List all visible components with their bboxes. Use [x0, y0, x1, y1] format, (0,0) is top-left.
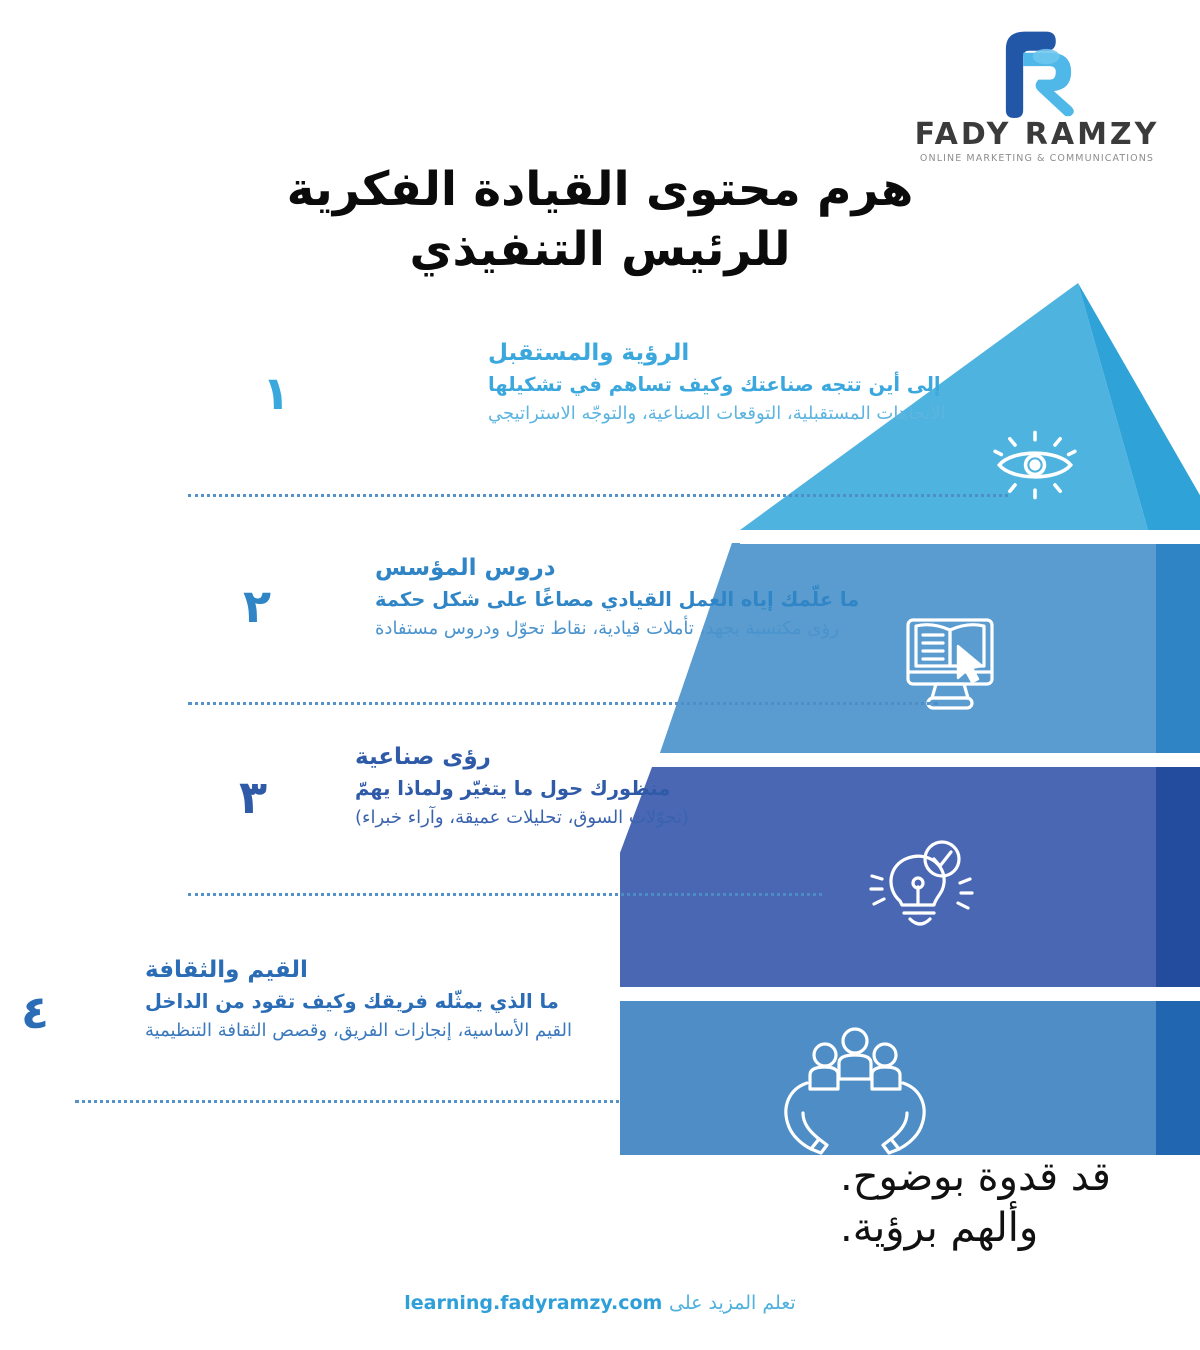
tier-4-divider: [75, 1100, 735, 1103]
tier-1-text: الرؤية والمستقبل إلى أين تتجه صناعتك وكي…: [278, 338, 948, 427]
tier-1-heading: الرؤية والمستقبل: [488, 338, 948, 369]
page-title: هرم محتوى القيادة الفكرية للرئيس التنفيذ…: [255, 160, 945, 280]
tier-4-number: ٤: [21, 989, 49, 1035]
tier-3-text: رؤى صناعية منظورك حول ما يتغيّر ولماذا ي…: [275, 742, 795, 831]
tier-1-number: ١: [262, 370, 290, 416]
brand-name: FADY RAMZY: [902, 120, 1172, 150]
footer-label: تعلم المزيد على: [669, 1292, 796, 1314]
tier-3-description: (تحوّلات السوق، تحليلات عميقة، وآراء خبر…: [355, 805, 795, 831]
tier-4-text: القيم والثقافة ما الذي يمثّله فريقك وكيف…: [55, 955, 645, 1044]
tier-2-heading: دروس المؤسس: [375, 553, 945, 584]
tier-3-number: ٣: [239, 774, 267, 820]
tier-4-heading: القيم والثقافة: [145, 955, 645, 986]
tier-1-description: الاتجاهات المستقبلية، التوقعات الصناعية،…: [488, 401, 948, 427]
tier-3-subheading: منظورك حول ما يتغيّر ولماذا يهمّ: [355, 775, 795, 802]
closing-tagline: قد قدوة بوضوح. وألهم برؤية.: [840, 1152, 1140, 1254]
brand-logo: FADY RAMZY ONLINE MARKETING & COMMUNICAT…: [902, 22, 1172, 164]
pyramid-tier-4: [620, 1001, 1200, 1155]
footer: تعلم المزيد على learning.fadyramzy.com: [0, 1292, 1200, 1314]
tier-3-divider: [188, 893, 822, 896]
tier-2-number: ٢: [243, 583, 271, 629]
tier-2-text: دروس المؤسس ما علّمك إياه العمل القيادي …: [275, 553, 945, 642]
fr-monogram-icon: [979, 22, 1094, 118]
tier-1-divider: [188, 494, 1008, 497]
tier-4-subheading: ما الذي يمثّله فريقك وكيف تقود من الداخل: [145, 988, 645, 1015]
tagline-line-1: قد قدوة بوضوح.: [840, 1152, 1140, 1203]
tier-2-description: رؤى مكتسبة بجهد، تأملات قيادية، نقاط تحو…: [375, 616, 945, 642]
tier-2-divider: [188, 702, 938, 705]
footer-url[interactable]: learning.fadyramzy.com: [404, 1292, 662, 1314]
tier-2-subheading: ما علّمك إياه العمل القيادي مصاغًا على ش…: [375, 586, 945, 613]
tagline-line-2: وألهم برؤية.: [840, 1203, 1140, 1254]
tier-1-subheading: إلى أين تتجه صناعتك وكيف تساهم في تشكيله…: [488, 371, 948, 398]
infographic-page: FADY RAMZY ONLINE MARKETING & COMMUNICAT…: [0, 0, 1200, 1350]
tier-3-heading: رؤى صناعية: [355, 742, 795, 773]
tier-4-description: القيم الأساسية، إنجازات الفريق، وقصص الث…: [145, 1018, 645, 1044]
